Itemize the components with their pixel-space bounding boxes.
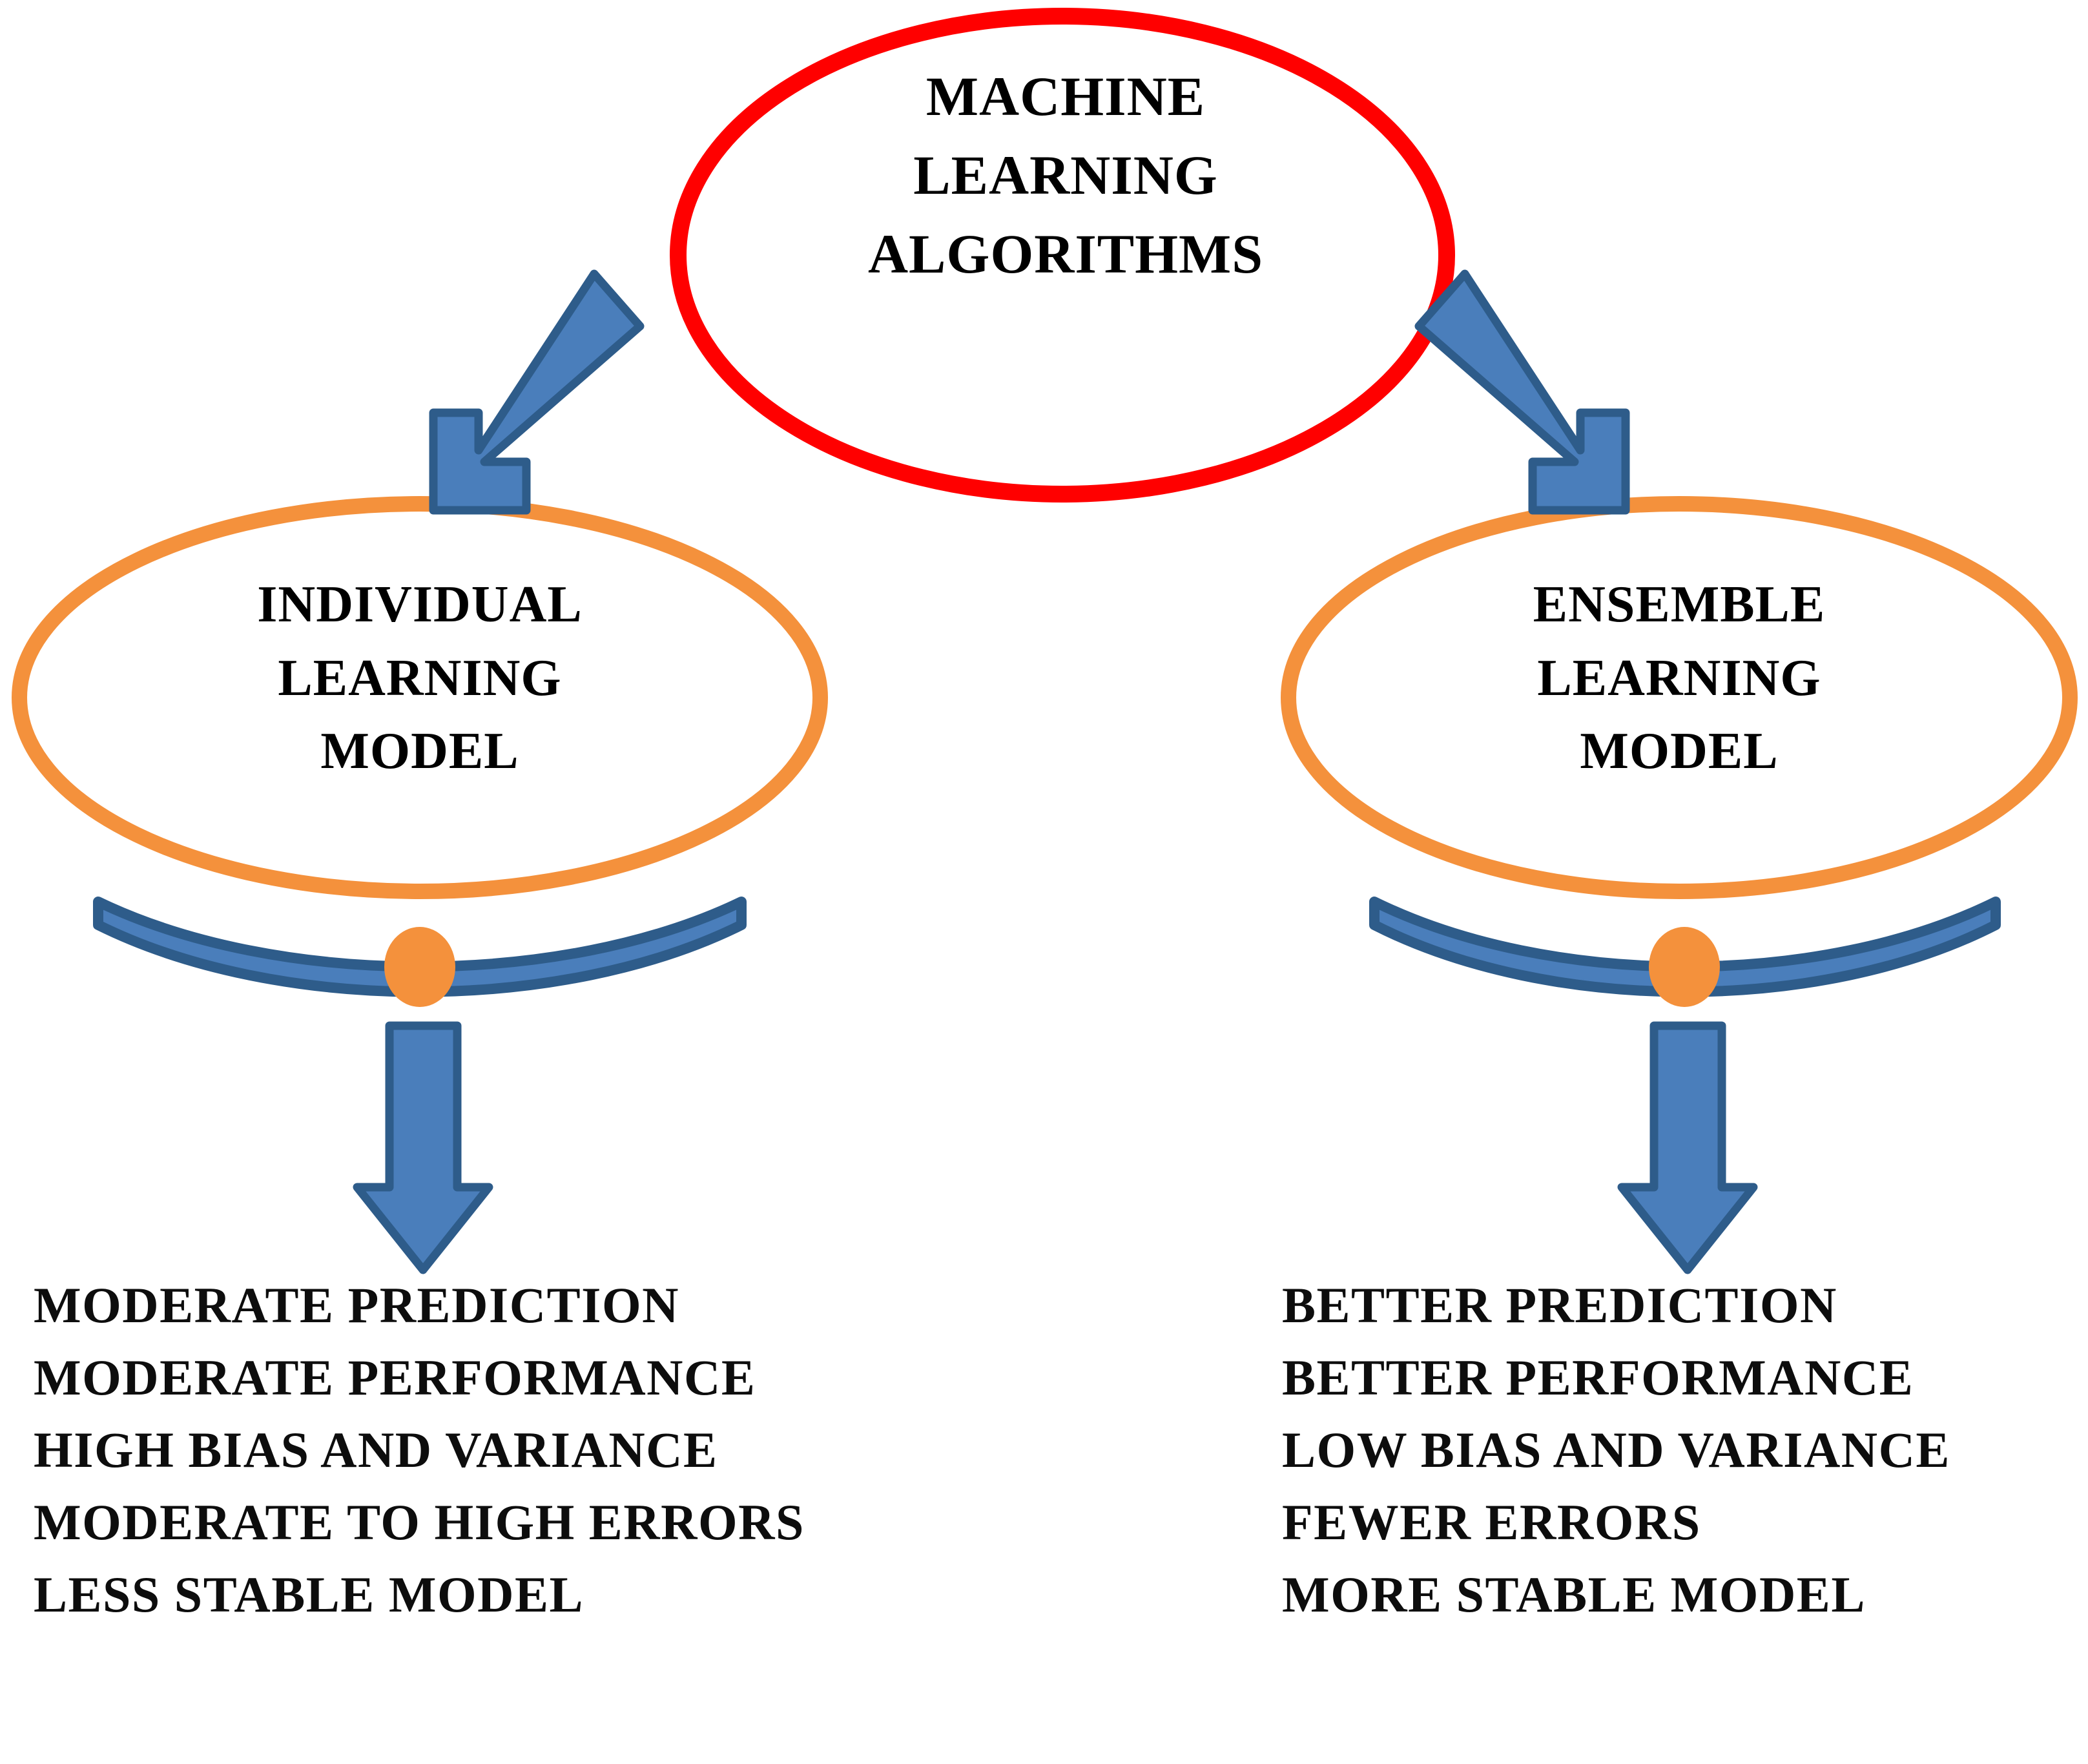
- left-orange-dot: [384, 927, 455, 1007]
- root-to-right-arrow: [1419, 274, 1626, 510]
- left-branch-connector: [98, 902, 741, 1270]
- list-item: BETTER PERFORMANCE: [1282, 1342, 2088, 1414]
- list-item: MODERATE PERFORMANCE: [34, 1342, 1002, 1414]
- list-item: BETTER PREDICTION: [1282, 1269, 2088, 1342]
- root-to-left-arrow: [433, 274, 640, 510]
- list-item: HIGH BIAS AND VARIANCE: [34, 1414, 1002, 1486]
- left-down-arrow: [357, 1026, 489, 1270]
- list-item: MORE STABLE MODEL: [1282, 1559, 2088, 1631]
- list-item: MODERATE PREDICTION: [34, 1269, 1002, 1342]
- list-item: LOW BIAS AND VARIANCE: [1282, 1414, 2088, 1486]
- list-item: FEWER ERRORS: [1282, 1486, 2088, 1559]
- list-item: MODERATE TO HIGH ERRORS: [34, 1486, 1002, 1559]
- individual-model-outcome-list: MODERATE PREDICTION MODERATE PERFORMANCE…: [34, 1269, 1002, 1631]
- diagram-canvas: MACHINE LEARNING ALGORITHMS INDIVIDUAL L…: [0, 0, 2088, 1764]
- list-item: LESS STABLE MODEL: [34, 1559, 1002, 1631]
- right-orange-dot: [1649, 927, 1720, 1007]
- ensemble-model-outcome-list: BETTER PREDICTION BETTER PERFORMANCE LOW…: [1282, 1269, 2088, 1631]
- root-ellipse[interactable]: [678, 16, 1447, 494]
- right-down-arrow: [1622, 1026, 1753, 1270]
- right-branch-ellipse[interactable]: [1288, 504, 2070, 891]
- right-branch-connector: [1374, 902, 1996, 1270]
- left-branch-ellipse[interactable]: [19, 504, 820, 891]
